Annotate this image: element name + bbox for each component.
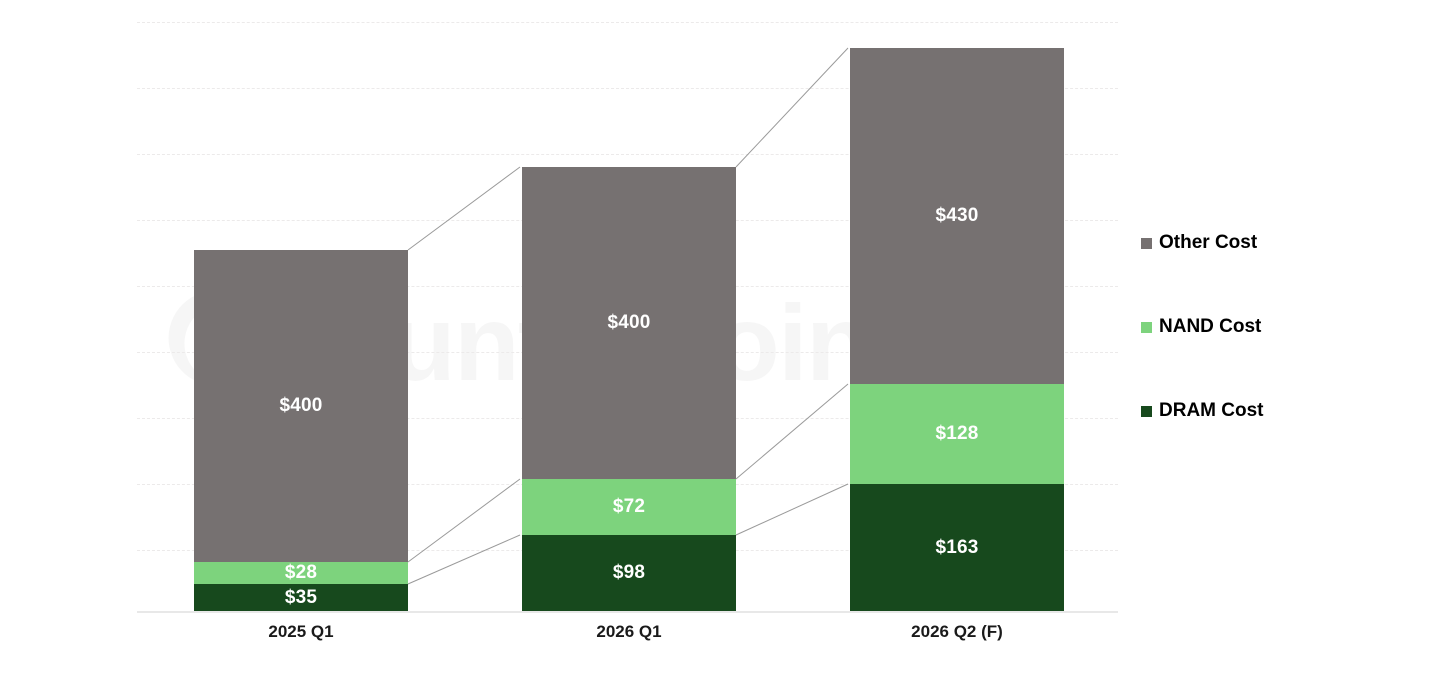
bar-segment-dram-cost[interactable]: $98 [522,535,736,611]
legend-swatch-icon [1141,406,1152,417]
plot-area: $400 $28 $35 $400 $72 $98 $430 [137,14,1118,611]
chart-canvas: Counterpoint $400 $28 [0,0,1440,681]
legend-label: DRAM Cost [1159,400,1264,422]
bar-segment-dram-cost[interactable]: $163 [850,484,1064,611]
connector-other [736,48,848,167]
connector-dram [408,535,520,584]
bar-segment-label: $163 [935,537,978,559]
bar-group-2026-q2-f[interactable]: $430 $128 $163 [850,48,1064,611]
x-axis-line [137,611,1118,613]
legend-label: Other Cost [1159,232,1257,254]
bar-segment-label: $430 [935,205,978,227]
gridline [137,22,1118,23]
connector-other [408,167,520,250]
bar-segment-label: $98 [613,562,645,584]
legend-swatch-icon [1141,238,1152,249]
x-axis-tick-2025-q1: 2025 Q1 [171,622,431,642]
x-axis-tick-2026-q1: 2026 Q1 [499,622,759,642]
bar-segment-label: $28 [285,562,317,584]
bar-segment-label: $35 [285,587,317,609]
bar-group-2025-q1[interactable]: $400 $28 $35 [194,250,408,611]
legend-label: NAND Cost [1159,316,1261,338]
legend-swatch-icon [1141,322,1152,333]
bar-segment-other-cost[interactable]: $430 [850,48,1064,384]
legend-item-nand-cost[interactable]: NAND Cost [1141,316,1264,338]
bar-segment-other-cost[interactable]: $400 [522,167,736,479]
x-axis-tick-2026-q2-f: 2026 Q2 (F) [827,622,1087,642]
bar-group-2026-q1[interactable]: $400 $72 $98 [522,167,736,611]
bar-segment-label: $72 [613,496,645,518]
bar-segment-label: $400 [279,395,322,417]
bar-segment-nand-cost[interactable]: $28 [194,562,408,584]
bar-segment-nand-cost[interactable]: $128 [850,384,1064,484]
legend: Other Cost NAND Cost DRAM Cost [1141,232,1264,484]
legend-item-other-cost[interactable]: Other Cost [1141,232,1264,254]
bar-segment-nand-cost[interactable]: $72 [522,479,736,535]
bar-segment-label: $400 [607,312,650,334]
bar-segment-dram-cost[interactable]: $35 [194,584,408,611]
bar-segment-label: $128 [935,423,978,445]
legend-item-dram-cost[interactable]: DRAM Cost [1141,400,1264,422]
connector-dram [736,484,848,535]
bar-segment-other-cost[interactable]: $400 [194,250,408,562]
connector-nand [736,384,848,479]
